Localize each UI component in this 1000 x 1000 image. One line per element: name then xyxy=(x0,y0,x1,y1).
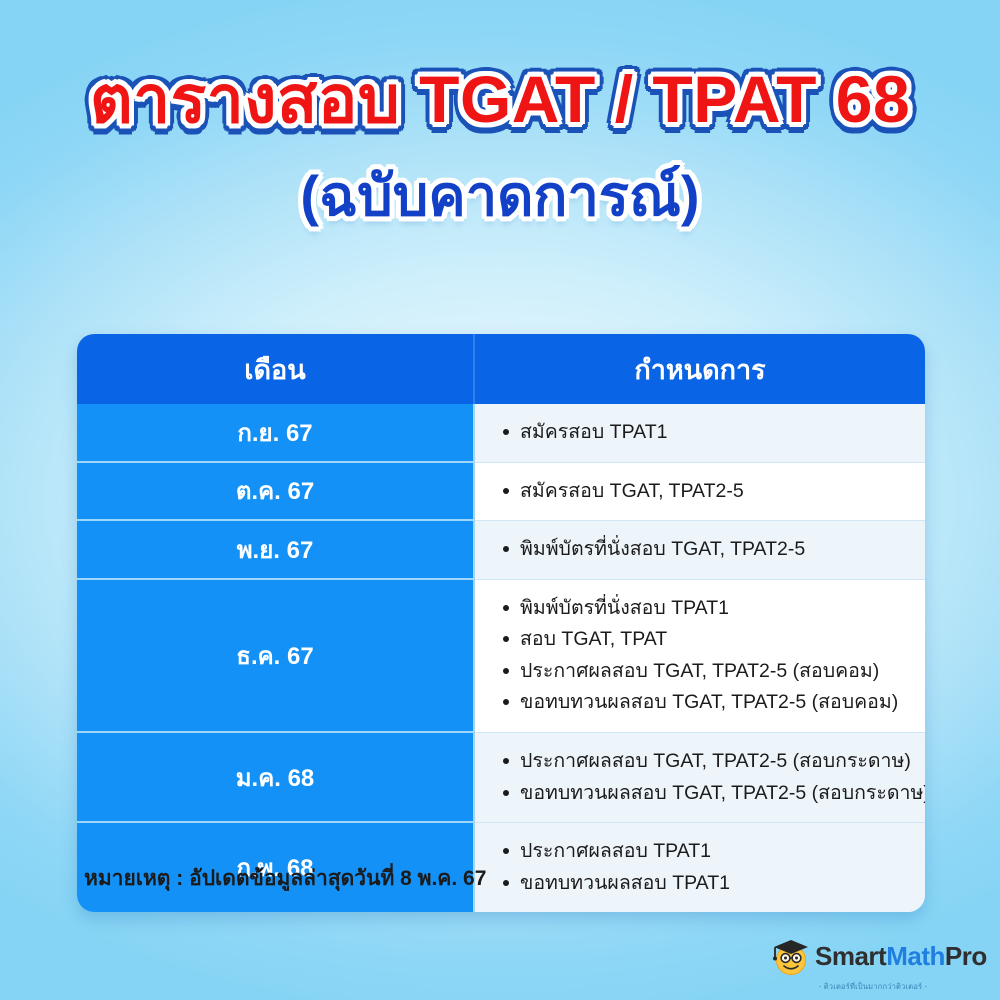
month-cell: ธ.ค. 67 xyxy=(77,580,475,733)
list-item: ประกาศผลสอบ TGAT, TPAT2-5 (สอบคอม) xyxy=(501,656,925,688)
month-cell: ม.ค. 68 xyxy=(77,733,475,823)
schedule-list: สมัครสอบ TPAT1 xyxy=(501,417,925,449)
month-cell: พ.ย. 67 xyxy=(77,521,475,580)
schedule-cell: ประกาศผลสอบ TGAT, TPAT2-5 (สอบกระดาษ) ขอ… xyxy=(475,733,925,823)
logo-part-math: Math xyxy=(886,941,945,971)
table-row: ธ.ค. 67 พิมพ์บัตรที่นั่งสอบ TPAT1 สอบ TG… xyxy=(77,580,925,733)
schedule-list: พิมพ์บัตรที่นั่งสอบ TGAT, TPAT2-5 xyxy=(501,534,925,566)
logo-part-pro: Pro xyxy=(945,941,987,971)
schedule-cell: พิมพ์บัตรที่นั่งสอบ TGAT, TPAT2-5 xyxy=(475,521,925,580)
footer-note: หมายเหตุ : อัปเดตข้อมูลล่าสุดวันที่ 8 พ.… xyxy=(84,862,486,895)
schedule-cell: สมัครสอบ TGAT, TPAT2-5 xyxy=(475,463,925,522)
brand-logo: SmartMathPro - ติวเตอร์ที่เป็นมากกว่าติว… xyxy=(768,934,978,992)
schedule-list: ประกาศผลสอบ TPAT1 ขอทบทวนผลสอบ TPAT1 xyxy=(501,836,925,899)
schedule-table: เดือน กำหนดการ ก.ย. 67 สมัครสอบ TPAT1 ต.… xyxy=(77,334,925,912)
column-header-month: เดือน xyxy=(77,334,475,404)
list-item: สอบ TGAT, TPAT xyxy=(501,624,925,656)
title-block: ตารางสอบ TGAT / TPAT 68 (ฉบับคาดการณ์) xyxy=(0,66,1000,224)
graduate-smiley-icon xyxy=(768,934,812,978)
list-item: ขอทบทวนผลสอบ TGAT, TPAT2-5 (สอบคอม) xyxy=(501,687,925,719)
table-row: พ.ย. 67 พิมพ์บัตรที่นั่งสอบ TGAT, TPAT2-… xyxy=(77,521,925,580)
page-subtitle: (ฉบับคาดการณ์) xyxy=(0,168,1000,224)
schedule-cell: ประกาศผลสอบ TPAT1 ขอทบทวนผลสอบ TPAT1 xyxy=(475,823,925,912)
list-item: ประกาศผลสอบ TGAT, TPAT2-5 (สอบกระดาษ) xyxy=(501,746,925,778)
list-item: พิมพ์บัตรที่นั่งสอบ TPAT1 xyxy=(501,593,925,625)
list-item: พิมพ์บัตรที่นั่งสอบ TGAT, TPAT2-5 xyxy=(501,534,925,566)
page-title: ตารางสอบ TGAT / TPAT 68 xyxy=(0,66,1000,132)
poster-canvas: ตารางสอบ TGAT / TPAT 68 (ฉบับคาดการณ์) เ… xyxy=(0,0,1000,1000)
column-header-schedule: กำหนดการ xyxy=(475,334,925,404)
logo-part-smart: Smart xyxy=(815,941,886,971)
schedule-list: พิมพ์บัตรที่นั่งสอบ TPAT1 สอบ TGAT, TPAT… xyxy=(501,593,925,719)
schedule-cell: พิมพ์บัตรที่นั่งสอบ TPAT1 สอบ TGAT, TPAT… xyxy=(475,580,925,733)
table-row: ม.ค. 68 ประกาศผลสอบ TGAT, TPAT2-5 (สอบกร… xyxy=(77,733,925,823)
table-row: ต.ค. 67 สมัครสอบ TGAT, TPAT2-5 xyxy=(77,463,925,522)
month-cell: ก.ย. 67 xyxy=(77,404,475,463)
logo-wordmark: SmartMathPro xyxy=(815,943,987,969)
table-row: ก.ย. 67 สมัครสอบ TPAT1 xyxy=(77,404,925,463)
list-item: ขอทบทวนผลสอบ TPAT1 xyxy=(501,868,925,900)
table-header-row: เดือน กำหนดการ xyxy=(77,334,925,404)
list-item: ประกาศผลสอบ TPAT1 xyxy=(501,836,925,868)
schedule-list: ประกาศผลสอบ TGAT, TPAT2-5 (สอบกระดาษ) ขอ… xyxy=(501,746,925,809)
month-cell: ต.ค. 67 xyxy=(77,463,475,522)
logo-tagline: - ติวเตอร์ที่เป็นมากกว่าติวเตอร์ - xyxy=(768,981,978,993)
schedule-list: สมัครสอบ TGAT, TPAT2-5 xyxy=(501,476,925,508)
list-item: สมัครสอบ TPAT1 xyxy=(501,417,925,449)
schedule-cell: สมัครสอบ TPAT1 xyxy=(475,404,925,463)
list-item: สมัครสอบ TGAT, TPAT2-5 xyxy=(501,476,925,508)
logo-row: SmartMathPro xyxy=(768,934,978,978)
list-item: ขอทบทวนผลสอบ TGAT, TPAT2-5 (สอบกระดาษ) xyxy=(501,778,925,810)
